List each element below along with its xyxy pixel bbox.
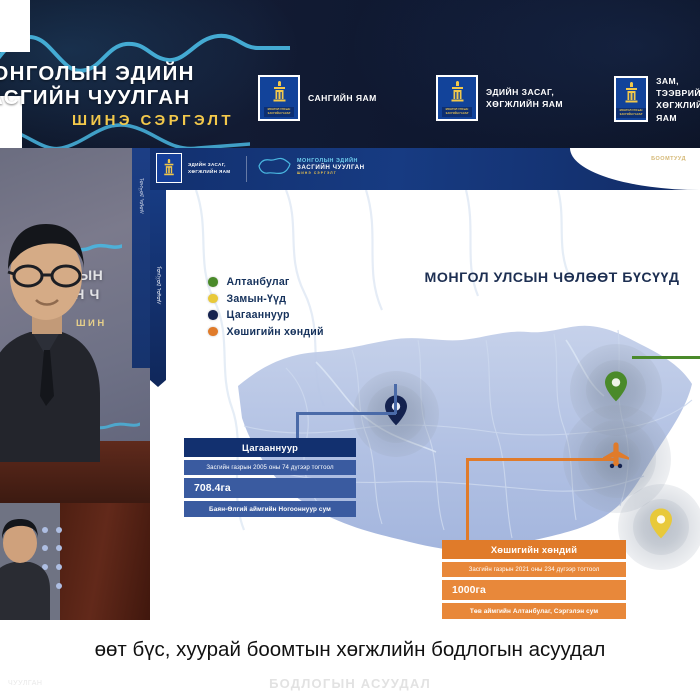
emblem-caption: МОНГОЛ УЛСЫН ЗАСГИЙН ГАЗАР	[264, 107, 294, 117]
card-resolution: Засгийн газрын 2021 оны 234 дүгээр тогто…	[442, 562, 626, 577]
banner-glow-right	[340, 0, 700, 148]
vertical-band-text: ᠮᠣᠩᠭᠣᠯ ᠤᠯᠤᠰ	[153, 266, 164, 305]
government-emblem-icon: МОНГОЛ УЛСЫН ЗАСГИЙН ГАЗАР	[614, 76, 648, 122]
connector-khoshigiin-vertical	[466, 458, 469, 540]
conference-banner: МОНГОЛЫН ЭДИЙН ЗАСГИЙН ЧУУЛГАН ШИНЭ СЭРГ…	[0, 0, 700, 148]
legend-label: Цагааннуур	[227, 309, 290, 321]
slide-topright-note: БООМТУУД	[651, 156, 686, 162]
emblem-caption: МОНГОЛ УЛСЫН ЗАСГИЙН ГАЗАР	[442, 107, 472, 117]
legend-color-swatch-zamiin-uud	[208, 294, 218, 304]
speaker-person	[0, 200, 110, 462]
slide-conference-logo: МОНГОЛЫН ЭДИЙН ЗАСГИЙН ЧУУЛГАН ШИНЭ СЭРГ…	[256, 155, 365, 177]
info-card-khoshigiin-khundii: Хөшигийн хөндий Засгийн газрын 2021 оны …	[442, 540, 626, 619]
sign-language-interpreter-panel	[0, 503, 150, 620]
soyombo-icon	[624, 82, 639, 106]
card-title: Цагааннуур	[184, 438, 356, 457]
ministry-label: ЭДИЙН ЗАСАГ, ХӨГЖЛИЙН ЯАМ	[486, 86, 563, 110]
legend-label: Алтанбулаг	[227, 276, 290, 288]
speaker-backdrop-band: ᠮᠣᠩᠭᠣᠯ ᠤᠯᠤᠰ	[132, 148, 150, 368]
ministry-logo-item-transport: МОНГОЛ УЛСЫН ЗАСГИЙН ГАЗАР ЗАМ, ТЭЭВРИЙН…	[614, 75, 700, 124]
legend-label: Хөшигийн хөндий	[227, 326, 324, 338]
legend-item: Хөшигийн хөндий	[208, 326, 324, 338]
map-legend: Алтанбулаг Замын-Үүд Цагааннуур Хөшигийн…	[208, 276, 324, 342]
ministry-label: ЗАМ, ТЭЭВРИЙН ХӨГЖЛИЙН ЯАМ	[656, 75, 700, 124]
legend-color-swatch-khoshigiin	[208, 327, 218, 337]
connector-khoshigiin-horizontal	[466, 458, 618, 461]
slide-ministry-label: ЭДИЙН ЗАСАГ, ХӨГЖЛИЙН ЯАМ	[188, 161, 230, 176]
interpreter-person	[0, 517, 54, 620]
ministry-label: САНГИЙН ЯАМ	[308, 92, 377, 104]
card-location: Баян-Өлгий аймгийн Ногооннуур сум	[184, 501, 356, 516]
slide-conf-line1: МОНГОЛЫН ЭДИЙН	[297, 158, 365, 164]
info-card-tsagaannuur: Цагааннуур Засгийн газрын 2005 оны 74 дү…	[184, 438, 356, 517]
banner-white-block-top	[0, 0, 30, 52]
slide-vertical-band: ᠮᠣᠩᠭᠣᠯ ᠤᠯᠤᠰ	[150, 190, 166, 380]
airport-icon	[602, 440, 632, 470]
ministry-logo-item-finance: МОНГОЛ УЛСЫН ЗАСГИЙН ГАЗАР САНГИЙН ЯАМ	[258, 75, 377, 121]
caption-secondary-text-left: ЧУУЛГАН	[8, 680, 42, 687]
mongolia-outline-icon	[256, 155, 292, 177]
emblem-caption: МОНГОЛ УЛСЫН ЗАСГИЙН ГАЗАР	[616, 108, 646, 118]
card-resolution: Засгийн газрын 2005 оны 74 дүгээр тогтоо…	[184, 460, 356, 475]
card-location: Төв аймгийн Алтанбулаг, Сэргэлэн сум	[442, 603, 626, 618]
soyombo-icon	[163, 159, 175, 178]
screenshot-root: МОНГОЛЫН ЭДИЙН ЗАСГИЙН ЧУУЛГАН ШИНЭ СЭРГ…	[0, 0, 700, 700]
backdrop-band-text: ᠮᠣᠩᠭᠣᠯ ᠤᠯᠤᠰ	[136, 178, 147, 214]
slide-conf-line2: ЗАСГИЙН ЧУУЛГАН	[297, 164, 365, 171]
map-marker-zamiin-uud[interactable]	[618, 484, 700, 570]
government-emblem-icon	[156, 153, 182, 183]
map-pin-icon	[605, 371, 627, 401]
map-pin-icon	[650, 508, 672, 538]
ministry-logo-item-economy: МОНГОЛ УЛСЫН ЗАСГИЙН ГАЗАР ЭДИЙН ЗАСАГ, …	[436, 75, 563, 121]
header-divider	[246, 156, 247, 182]
interpreter-wood-panel	[60, 503, 150, 620]
legend-label: Замын-Үүд	[227, 293, 287, 305]
connector-altanbulag	[632, 356, 700, 359]
government-emblem-icon: МОНГОЛ УЛСЫН ЗАСГИЙН ГАЗАР	[258, 75, 300, 121]
government-emblem-icon: МОНГОЛ УЛСЫН ЗАСГИЙН ГАЗАР	[436, 75, 478, 121]
presentation-slide: ЭДИЙН ЗАСАГ, ХӨГЖЛИЙН ЯАМ МОНГОЛЫН ЭДИЙН…	[150, 148, 700, 620]
legend-color-swatch-tsagaannuur	[208, 310, 218, 320]
legend-item: Замын-Үүд	[208, 293, 324, 305]
connector-tsagaannuur-horizontal	[298, 412, 396, 415]
slide-header: ЭДИЙН ЗАСАГ, ХӨГЖЛИЙН ЯАМ МОНГОЛЫН ЭДИЙН…	[150, 148, 700, 190]
conference-subtitle: ШИНЭ СЭРГЭЛТ	[72, 112, 234, 129]
legend-color-swatch-altanbulag	[208, 277, 218, 287]
soyombo-icon	[272, 81, 287, 105]
card-area: 708.4га	[184, 478, 356, 498]
map-title: МОНГОЛ УЛСЫН ЧӨЛӨӨТ БҮСҮҮД	[402, 270, 700, 286]
slide-conf-line3: ШИНЭ СЭРГЭЛТ	[297, 171, 365, 175]
legend-item: Алтанбулаг	[208, 276, 324, 288]
caption-primary-text: өөт бүс, хуурай боомтын хөгжлийн бодлогы…	[0, 638, 700, 662]
map-container: Алтанбулаг Замын-Үүд Цагааннуур Хөшигийн…	[166, 190, 700, 620]
connector-tsagaannuur-vertical	[296, 412, 299, 438]
header-curve-decoration	[570, 148, 700, 190]
speaker-video-panel: МОНГОЛЫН ЗАСГИЙН Ч ШИН ᠮᠣᠩᠭᠣᠯ ᠤᠯᠤᠰ	[0, 148, 150, 503]
legend-item: Цагааннуур	[208, 309, 324, 321]
card-area: 1000га	[442, 580, 626, 600]
caption-bar: өөт бүс, хуурай боомтын хөгжлийн бодлогы…	[0, 620, 700, 700]
connector-tsagaannuur-stub	[394, 384, 397, 414]
soyombo-icon	[450, 81, 465, 105]
caption-secondary-text: БОДЛОГЫН АСУУДАЛ	[0, 676, 700, 691]
card-title: Хөшигийн хөндий	[442, 540, 626, 559]
